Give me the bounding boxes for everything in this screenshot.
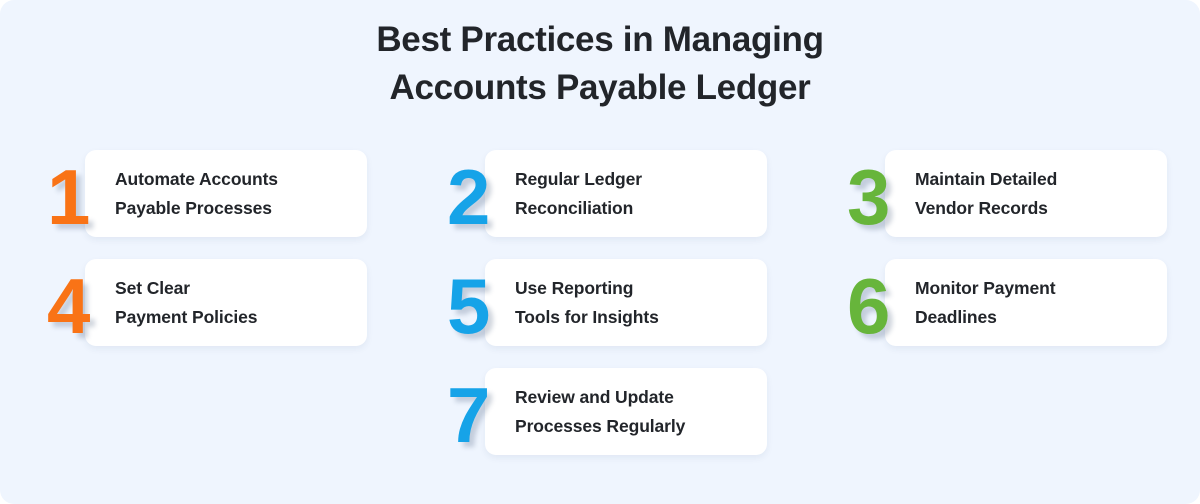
practice-card: 7 Review and Update Processes Regularly (433, 368, 767, 455)
practice-card: 1 Automate Accounts Payable Processes (33, 150, 367, 237)
grid-slot: 5 Use Reporting Tools for Insights (400, 259, 800, 346)
practice-label-line-2: Reconciliation (515, 194, 642, 223)
practice-label: Use Reporting Tools for Insights (509, 274, 671, 332)
practice-label-line-1: Regular Ledger (515, 165, 642, 194)
practice-label-line-1: Set Clear (115, 274, 257, 303)
practice-label: Monitor Payment Deadlines (909, 274, 1067, 332)
practice-number: 4 (33, 267, 109, 345)
grid-slot: 6 Monitor Payment Deadlines (800, 259, 1200, 346)
grid-slot: 1 Automate Accounts Payable Processes (0, 150, 400, 237)
page-title: Best Practices in Managing Accounts Paya… (0, 16, 1200, 112)
practice-label-line-2: Payment Policies (115, 303, 257, 332)
practice-label-line-2: Tools for Insights (515, 303, 659, 332)
practice-card: 5 Use Reporting Tools for Insights (433, 259, 767, 346)
practice-number: 3 (833, 158, 909, 236)
practice-number: 2 (433, 158, 509, 236)
practice-card: 6 Monitor Payment Deadlines (833, 259, 1167, 346)
practice-label: Review and Update Processes Regularly (509, 383, 697, 441)
practices-row-2: 4 Set Clear Payment Policies 5 Use Repor… (0, 259, 1200, 368)
practice-label-line-1: Maintain Detailed (915, 165, 1057, 194)
grid-slot: 2 Regular Ledger Reconciliation (400, 150, 800, 237)
practice-number: 5 (433, 267, 509, 345)
grid-slot: 3 Maintain Detailed Vendor Records (800, 150, 1200, 237)
practices-grid: 1 Automate Accounts Payable Processes 2 … (0, 150, 1200, 477)
practice-label: Regular Ledger Reconciliation (509, 165, 654, 223)
grid-slot: 7 Review and Update Processes Regularly (400, 368, 800, 455)
practice-number: 7 (433, 376, 509, 454)
practice-card: 2 Regular Ledger Reconciliation (433, 150, 767, 237)
practice-label-line-2: Payable Processes (115, 194, 278, 223)
practice-card: 4 Set Clear Payment Policies (33, 259, 367, 346)
practice-label-line-2: Processes Regularly (515, 412, 685, 441)
infographic-root: Best Practices in Managing Accounts Paya… (0, 0, 1200, 504)
practice-label-line-1: Automate Accounts (115, 165, 278, 194)
practice-label-line-2: Deadlines (915, 303, 1055, 332)
practice-label: Automate Accounts Payable Processes (109, 165, 290, 223)
practice-number: 1 (33, 158, 109, 236)
practices-row-3: 7 Review and Update Processes Regularly (0, 368, 1200, 477)
practice-label-line-1: Use Reporting (515, 274, 659, 303)
practice-label: Maintain Detailed Vendor Records (909, 165, 1069, 223)
grid-slot: 4 Set Clear Payment Policies (0, 259, 400, 346)
page-title-line-1: Best Practices in Managing (0, 16, 1200, 64)
practices-row-1: 1 Automate Accounts Payable Processes 2 … (0, 150, 1200, 259)
page-title-line-2: Accounts Payable Ledger (0, 64, 1200, 112)
practice-label-line-1: Review and Update (515, 383, 685, 412)
practice-label: Set Clear Payment Policies (109, 274, 269, 332)
practice-card: 3 Maintain Detailed Vendor Records (833, 150, 1167, 237)
practice-label-line-2: Vendor Records (915, 194, 1057, 223)
practice-label-line-1: Monitor Payment (915, 274, 1055, 303)
practice-number: 6 (833, 267, 909, 345)
